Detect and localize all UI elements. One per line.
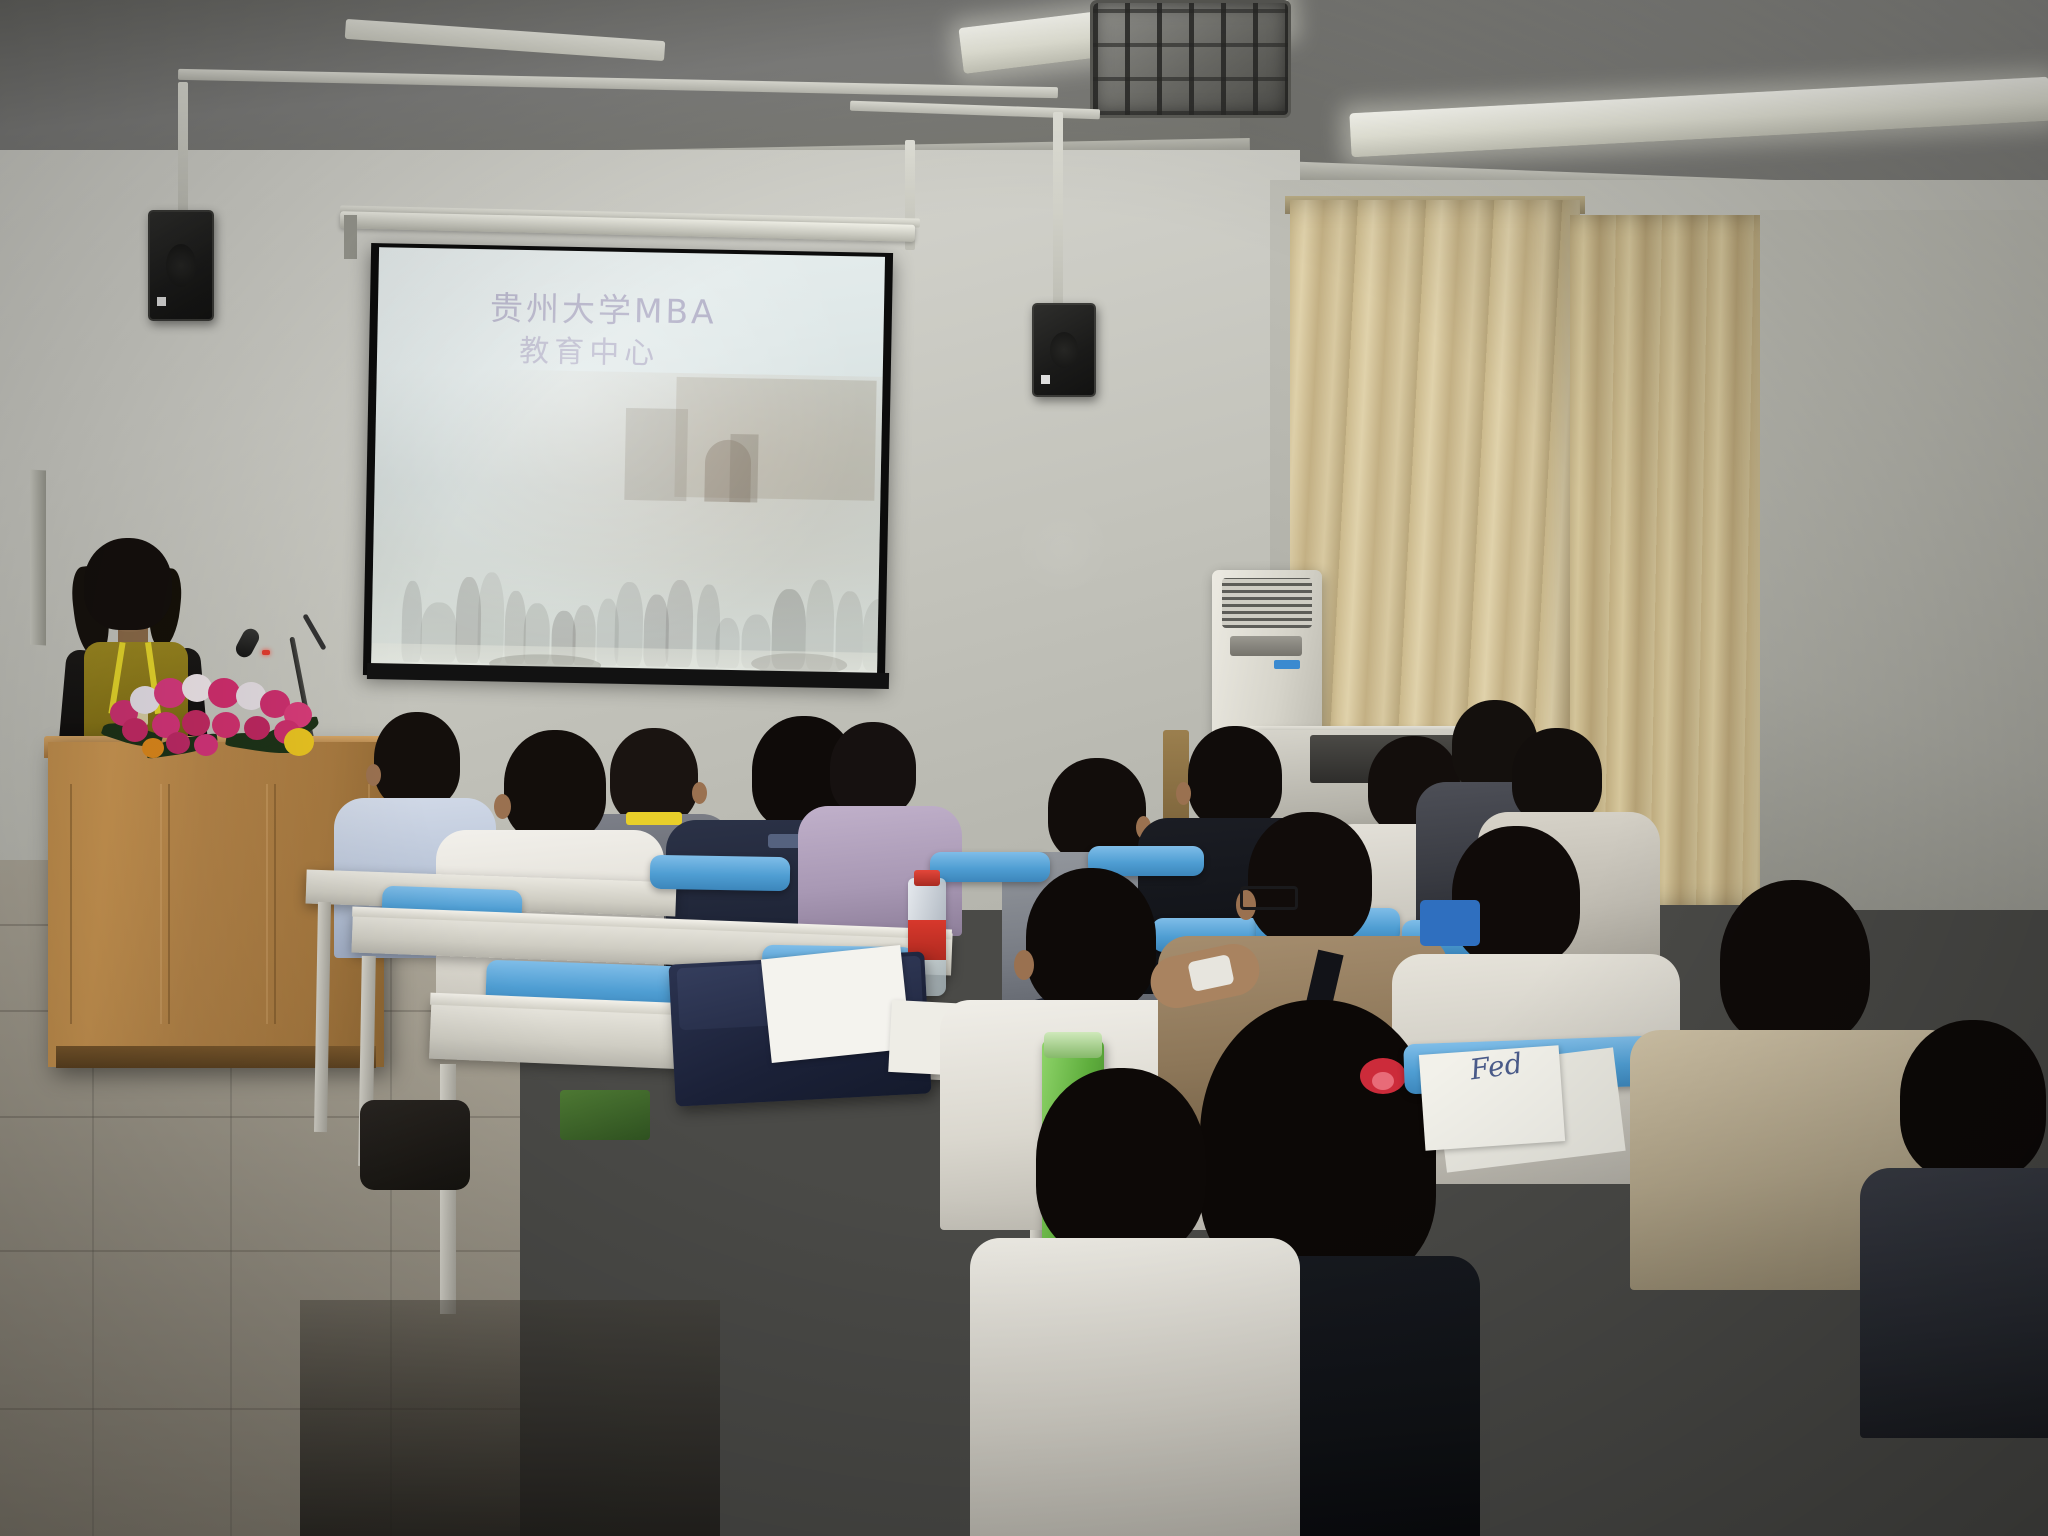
lectern-panel [70, 784, 162, 1024]
blue-folder[interactable] [1420, 900, 1480, 946]
flower-petal [244, 716, 270, 740]
person-head [1036, 1068, 1206, 1258]
audience-person-foreground [1000, 1068, 1260, 1536]
person-ear [692, 782, 707, 804]
screen-wall-bracket [344, 215, 357, 259]
air-conditioner-panel[interactable] [1230, 636, 1302, 656]
person-head [1512, 728, 1602, 824]
projection-screen[interactable]: 贵州大学MBA 教育中心 [363, 243, 893, 685]
flower-petal [122, 718, 148, 742]
wall-conduit [1053, 112, 1063, 312]
person-head [1900, 1020, 2046, 1180]
flower-arrangement [108, 672, 320, 764]
rear-right-wall [1760, 210, 2048, 910]
wall-speaker-left [148, 210, 214, 321]
audience-person-foreground [1880, 1020, 2048, 1420]
flower-petal [182, 674, 212, 702]
wall-speaker-right [1032, 303, 1096, 397]
air-conditioner-badge [1274, 660, 1300, 669]
person-head [374, 712, 460, 808]
person-torso [1860, 1168, 2048, 1438]
thermos-cap [1044, 1032, 1102, 1058]
flower-petal [182, 710, 210, 736]
flower-petal-yellow [284, 728, 314, 756]
speaker-cone [166, 244, 196, 287]
person-ear [1014, 950, 1034, 980]
projected-slide: 贵州大学MBA 教育中心 [371, 247, 885, 679]
person-head [830, 722, 916, 816]
person-ear [1176, 782, 1191, 805]
blackboard-glare [1010, 500, 1115, 595]
presenter-hair [84, 538, 172, 630]
bottle-cap [914, 870, 940, 886]
flower-petal [166, 732, 190, 754]
classroom-photo-scene: 贵州大学MBA 教育中心 [0, 0, 2048, 1536]
person-ear [494, 794, 511, 819]
speaker-label-icon [157, 297, 166, 306]
flower-petal [154, 678, 186, 708]
microphone-led-indicator [262, 650, 270, 655]
bag-on-floor [360, 1100, 470, 1190]
blackboard-side-edge [30, 469, 46, 645]
person-ear [366, 764, 381, 786]
flower-petal [194, 734, 218, 756]
speaker-label-icon [1041, 375, 1050, 384]
green-object-on-desk [560, 1090, 650, 1140]
speaker-cone [1050, 332, 1079, 368]
hair-clip-highlight [1372, 1072, 1394, 1090]
lectern-panel [168, 784, 268, 1024]
person-head [504, 730, 606, 842]
foreground-shadow [300, 1300, 720, 1536]
person-torso [970, 1238, 1300, 1536]
eyeglasses-icon [1240, 886, 1298, 910]
person-head [1720, 880, 1870, 1046]
chair-back[interactable] [650, 855, 791, 891]
paper-sheet[interactable] [761, 945, 911, 1063]
ceiling-projector-cage [1090, 0, 1291, 118]
person-head [1248, 812, 1372, 946]
air-conditioner-grille [1222, 578, 1312, 628]
person-head [1026, 868, 1156, 1012]
flower-petal [212, 712, 240, 738]
projector-glow [371, 247, 885, 679]
flower-petal-orange [142, 738, 164, 758]
